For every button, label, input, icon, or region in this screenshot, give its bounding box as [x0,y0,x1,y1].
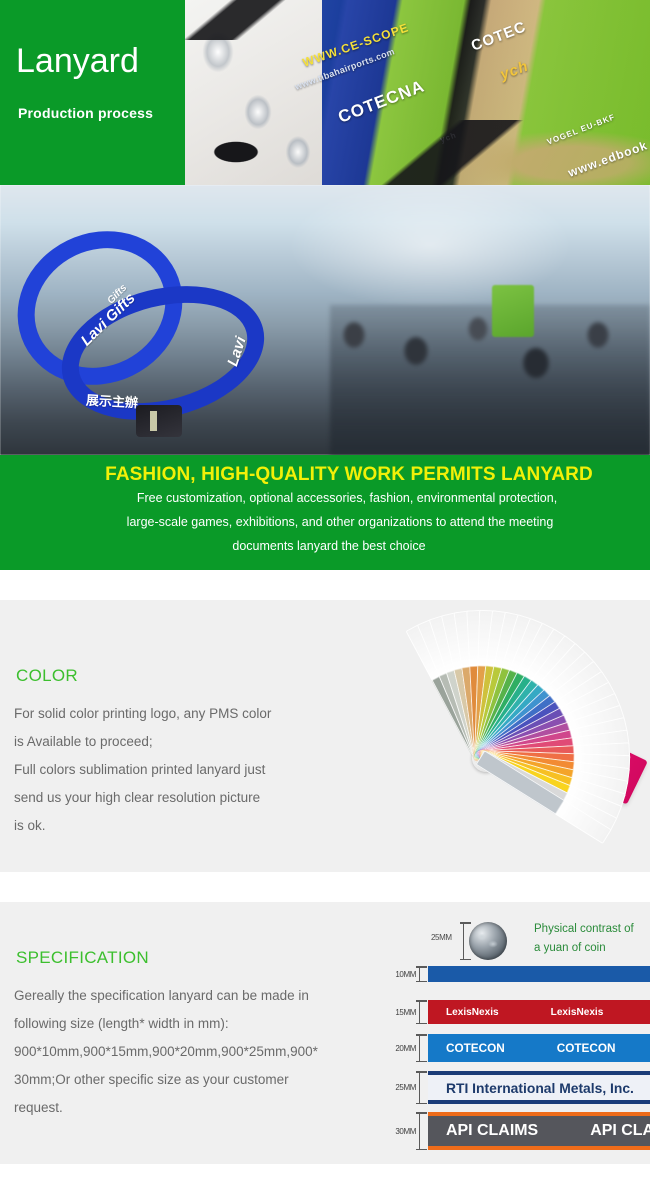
coin-reference-row: 25MM Physical contrast of a yuan of coin [431,920,646,962]
hero-brand-vogel: VOGEL EU-BKF [546,112,617,146]
hero-brand-cotecna: COTECNA [335,76,427,127]
pitch-heading: FASHION, HIGH-QUALITY WORK PERMITS LANYA… [0,455,650,486]
specification-size-chart: 25MM Physical contrast of a yuan of coin… [375,916,650,1152]
crowd-blur [330,305,650,455]
coin-note-line-1: Physical contrast of [534,920,634,939]
spec-strip-brand: COTECON [557,1042,616,1055]
hero-brand-tiba: www.tibahairports.com [293,46,396,91]
spec-body-line-2: following size (length* width in mm): [14,1010,374,1038]
spec-body-line-5: request. [14,1094,374,1122]
section-gap-2 [0,872,650,902]
spec-strip-brand: COTECON [446,1042,505,1055]
pitch-line-2: large-scale games, exhibitions, and othe… [0,510,650,534]
color-body-line-2: is Available to proceed; [14,728,334,756]
pantone-fan-deck-image [330,618,640,858]
spec-strip-row: 10MM [375,966,650,982]
color-body-line-5: is ok. [14,812,334,840]
spec-strip-row: 15MMLexisNexisLexisNexis [375,1000,650,1024]
hero-brand-cotec: COTEC [469,18,529,54]
hero-brand-ych: ych [498,58,531,84]
spec-strip-row: 20MMCOTECONCOTECON [375,1034,650,1062]
coin-note: Physical contrast of a yuan of coin [534,920,634,958]
spec-strip-brand: RTI International Metals, Inc. [446,1080,634,1096]
color-section-title: COLOR [16,666,78,686]
specification-section-title: SPECIFICATION [16,948,149,968]
spec-strip-brand: API CLAIMS [590,1122,650,1140]
color-body-line-4: send us your high clear resolution pictu… [14,784,334,812]
spec-strip-row: 30MMAPI CLAIMSAPI CLAIMS [375,1112,650,1150]
pitch-line-1: Free customization, optional accessories… [0,486,650,510]
spec-strip-brand: API CLAIMS [446,1122,538,1140]
specification-section-body: Gereally the specification lanyard can b… [14,982,374,1122]
spec-body-line-3: 900*10mm,900*15mm,900*20mm,900*25mm,900* [14,1038,374,1066]
spec-strip-caliper-icon [419,1000,428,1024]
spec-strip: API CLAIMSAPI CLAIMS [428,1112,650,1150]
coin-note-line-2: a yuan of coin [534,939,634,958]
color-section-body: For solid color printing logo, any PMS c… [14,700,334,840]
showcase-section: Lavi Gifts Gifts Lavi 展示主辦 [0,185,650,455]
spec-strip-size-label: 25MM [375,1083,419,1092]
color-section: COLOR For solid color printing logo, any… [0,600,650,872]
lanyard-buckle [136,405,182,437]
coin-image [469,922,507,960]
spec-strip-caliper-icon [419,1071,428,1104]
green-tote-bag [492,285,534,337]
spec-strip-caliper-icon [419,1112,428,1150]
hero-title-block: Lanyard Production process [0,0,185,185]
spec-body-line-1: Gereally the specification lanyard can b… [14,982,374,1010]
spec-body-line-4: 30mm;Or other specific size as your cust… [14,1066,374,1094]
lavi-gifts-lanyard: Lavi Gifts Gifts Lavi 展示主辦 [8,223,308,453]
spec-strip [428,966,650,982]
page-title: Lanyard [16,44,139,78]
lanyard-chinese-text: 展示主辦 [86,390,139,412]
spec-strip-size-label: 10MM [375,970,419,979]
color-body-line-3: Full colors sublimation printed lanyard … [14,756,334,784]
spec-strip-size-label: 30MM [375,1127,419,1136]
spec-strip: RTI International Metals, Inc.RTI Intern… [428,1071,650,1104]
hero-section: www.tibahairports.com WWW.CE-SCOPE COTEC… [0,0,650,185]
spec-strip: LexisNexisLexisNexis [428,1000,650,1024]
hero-brand-edbook: www.edbook [566,138,649,180]
spec-strip-caliper-icon [419,1034,428,1062]
spec-strip-size-label: 20MM [375,1044,419,1053]
pitch-line-3: documents lanyard the best choice [0,534,650,558]
coin-size-label: 25MM [431,933,452,942]
spec-strip-brand: LexisNexis [446,1007,499,1018]
spec-strip-caliper-icon [419,966,428,982]
spec-strip: COTECONCOTECON [428,1034,650,1062]
page-subtitle: Production process [18,105,153,121]
spec-strip-size-label: 15MM [375,1008,419,1017]
section-gap-1 [0,570,650,600]
spec-strip-row: 25MMRTI International Metals, Inc.RTI In… [375,1071,650,1104]
pitch-banner: FASHION, HIGH-QUALITY WORK PERMITS LANYA… [0,455,650,570]
spec-strip-brand: LexisNexis [551,1007,604,1018]
color-body-line-1: For solid color printing logo, any PMS c… [14,700,334,728]
specification-section: SPECIFICATION Gereally the specification… [0,902,650,1164]
hero-brand-ych-secondary: ych [439,130,458,144]
hero-brand-ce-scope: WWW.CE-SCOPE [301,20,411,69]
